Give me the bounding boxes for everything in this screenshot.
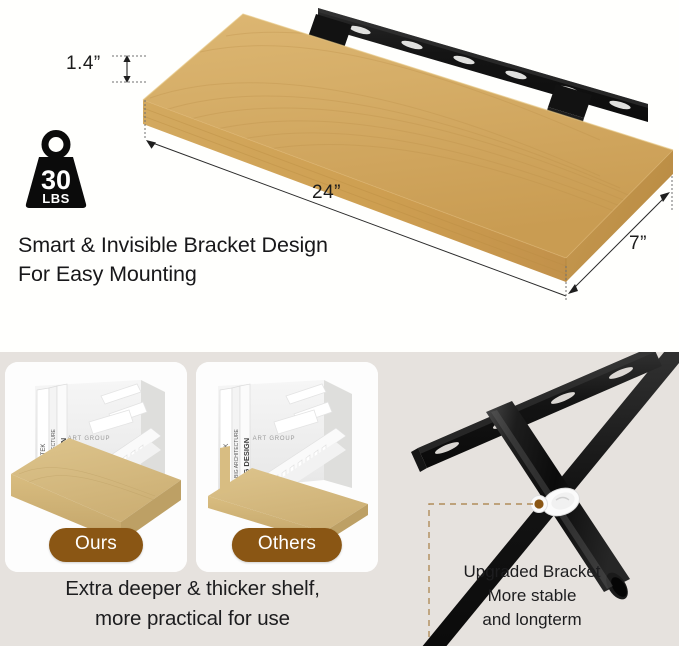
dimension-label-width: 24” [312,182,341,204]
headline-line-1: Smart & Invisible Bracket Design [18,231,438,260]
comparison-caption-line-2: more practical for use [0,604,385,634]
bottom-section-features: ART GROUP [0,352,679,646]
dimension-label-depth: 7” [629,233,647,255]
bracket-caption-line-1: Upgraded Bracket [385,560,679,584]
comparison-card-ours: ART GROUP [5,362,187,572]
comparison-caption-line-1: Extra deeper & thicker shelf, [0,574,385,604]
bracket-caption-line-2: More stable [385,584,679,608]
poster-label-others: ART GROUP [253,436,296,442]
bracket-caption: Upgraded Bracket More stable and longter… [385,560,679,632]
comparison-caption: Extra deeper & thicker shelf, more pract… [0,574,385,634]
comparison-card-others: ART GROUP [196,362,378,572]
dimension-label-thickness: 1.4” [66,53,101,75]
pill-others: Others [232,528,342,562]
product-infographic: 1.4” 24” 7” 30 LBS Smart & Invisible Bra… [0,0,679,646]
top-section-shelf-dimensions: 1.4” 24” 7” 30 LBS Smart & Invisible Bra… [0,0,679,352]
pill-ours: Ours [49,528,143,562]
bracket-caption-line-3: and longterm [385,608,679,632]
page-headline: Smart & Invisible Bracket Design For Eas… [18,231,438,289]
book-spine-2-others: BIG ARCHITECTURE [234,428,240,478]
weight-unit: LBS [42,191,70,206]
headline-line-2: For Easy Mounting [18,260,438,289]
bracket-closeup-panel: Upgraded Bracket More stable and longter… [385,352,679,646]
comparison-panel: ART GROUP [0,352,385,646]
weight-capacity-icon: 30 LBS [22,130,90,210]
